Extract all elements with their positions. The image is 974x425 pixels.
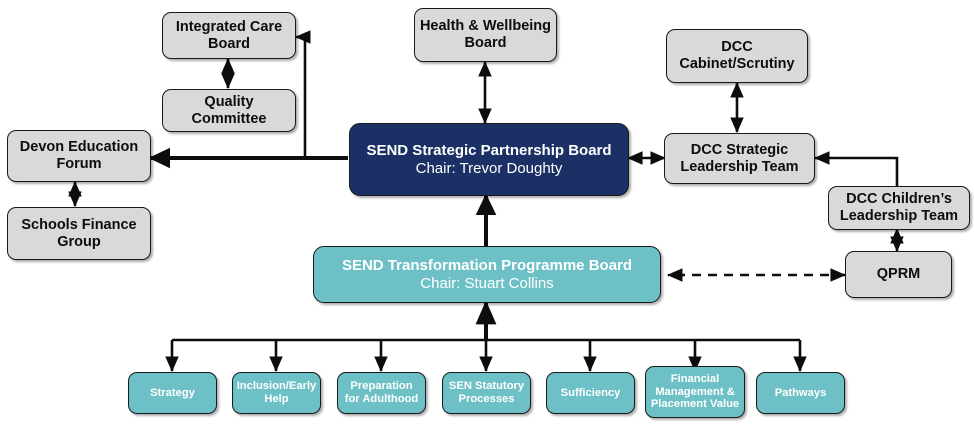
node-dcc-childrens-leadership-team[interactable]: DCC Children’s Leadership Team [828, 186, 970, 230]
integrated-care-board-line2: Board [208, 36, 250, 52]
devon-education-forum-line2: Forum [56, 156, 101, 172]
workstream-preparation-line2: Adulthood [362, 393, 418, 405]
workstream-sufficiency[interactable]: Sufficiency [546, 372, 635, 414]
workstream-sen-statutory-processes[interactable]: SEN Statutory Processes [442, 372, 531, 414]
integrated-care-board-line1: Integrated Care [176, 19, 282, 35]
edge-sspb-icb [296, 37, 348, 158]
stpb-chair: Chair: Stuart Collins [342, 275, 632, 292]
node-dcc-strategic-leadership-team[interactable]: DCC Strategic Leadership Team [664, 133, 815, 184]
workstream-sen-line1: SEN Statutory [449, 380, 524, 392]
node-schools-finance-group[interactable]: Schools Finance Group [7, 207, 151, 260]
workstream-pathways-line1: Pathways [775, 387, 827, 399]
quality-committee-line1: Quality [204, 94, 253, 110]
node-devon-education-forum[interactable]: Devon Education Forum [7, 130, 151, 182]
node-qprm[interactable]: QPRM [845, 251, 952, 298]
workstream-financial-line1: Financial [671, 373, 720, 385]
schools-finance-group-line1: Schools Finance [21, 217, 136, 233]
node-dcc-cabinet-scrutiny[interactable]: DCC Cabinet/Scrutiny [666, 29, 808, 83]
node-integrated-care-board[interactable]: Integrated Care Board [162, 12, 296, 59]
sspb-title: SEND Strategic Partnership Board [366, 142, 611, 159]
workstream-financial-line3: Placement Value [651, 398, 739, 410]
workstream-financial-management-placement-value[interactable]: Financial Management & Placement Value [645, 366, 745, 418]
workstream-inclusion-line2: Help [264, 393, 288, 405]
workstream-pathways[interactable]: Pathways [756, 372, 845, 414]
workstream-sufficiency-line1: Sufficiency [561, 387, 621, 399]
dcc-strategic-leadership-team-line1: DCC Strategic [691, 142, 789, 158]
org-chart-diagram: Integrated Care Board Quality Committee … [0, 0, 974, 425]
dcc-cabinet-scrutiny-line1: DCC [721, 39, 752, 55]
stpb-title: SEND Transformation Programme Board [342, 257, 632, 274]
workstream-inclusion-early-help[interactable]: Inclusion/Early Help [232, 372, 321, 414]
dcc-cabinet-scrutiny-line2: Cabinet/Scrutiny [679, 56, 794, 72]
node-health-wellbeing-board[interactable]: Health & Wellbeing Board [414, 8, 557, 62]
qprm-label: QPRM [877, 266, 921, 283]
sspb-chair: Chair: Trevor Doughty [366, 160, 611, 177]
node-send-transformation-programme-board[interactable]: SEND Transformation Programme Board Chai… [313, 246, 661, 303]
workstream-strategy-line1: Strategy [150, 387, 195, 399]
devon-education-forum-line1: Devon Education [20, 139, 138, 155]
health-wellbeing-board-line1: Health & [420, 18, 479, 34]
node-send-strategic-partnership-board[interactable]: SEND Strategic Partnership Board Chair: … [349, 123, 629, 196]
edge-dclt-dslt [815, 158, 897, 186]
workstream-strategy[interactable]: Strategy [128, 372, 217, 414]
workstream-inclusion-line1: Inclusion/Early [237, 380, 317, 392]
dcc-strategic-leadership-team-line2: Leadership Team [680, 159, 798, 175]
workstream-financial-line2: Management & [655, 386, 735, 398]
node-quality-committee[interactable]: Quality Committee [162, 89, 296, 132]
schools-finance-group-line2: Group [57, 234, 101, 250]
quality-committee-line2: Committee [192, 111, 267, 127]
dcc-childrens-leadership-team-line1: DCC Children’s [846, 191, 952, 207]
workstream-sen-line2: Processes [459, 393, 515, 405]
dcc-childrens-leadership-team-line2: Leadership Team [840, 208, 958, 224]
workstream-preparation-for-adulthood[interactable]: Preparation for Adulthood [337, 372, 426, 414]
